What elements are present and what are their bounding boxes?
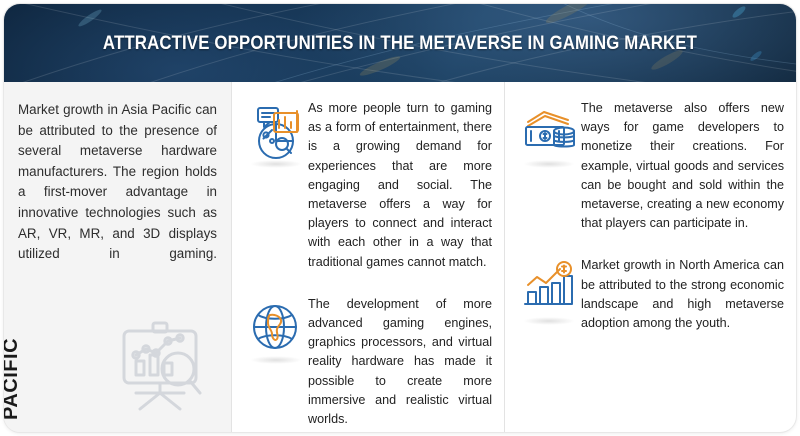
icon-shadow xyxy=(523,160,575,168)
bar-chart-growth-dollar-icon xyxy=(519,259,577,317)
presentation-board-chart-icon xyxy=(110,317,210,418)
left-panel-footer: ASIA PACIFIC xyxy=(4,306,231,426)
infographic-screenshot: ATTRACTIVE OPPORTUNITIES IN THE METAVERS… xyxy=(0,0,800,436)
pie-chart-analysis-icon xyxy=(246,102,304,160)
list-item: As more people turn to gaming as a form … xyxy=(242,98,492,272)
list-item-text: The development of more advanced gaming … xyxy=(308,294,492,429)
list-item: The metaverse also offers new ways for g… xyxy=(515,98,784,233)
region-label: ASIA PACIFIC xyxy=(4,338,22,420)
left-panel-paragraph: Market growth in Asia Pacific can be att… xyxy=(18,100,217,265)
icon-shadow xyxy=(250,160,302,168)
page-title: ATTRACTIVE OPPORTUNITIES IN THE METAVERS… xyxy=(59,4,740,82)
list-item: Market growth in North America can be at… xyxy=(515,255,784,333)
money-banknote-coins-icon xyxy=(519,102,577,160)
list-item-text: Market growth in North America can be at… xyxy=(581,255,784,333)
icon-container xyxy=(515,255,581,322)
icon-container xyxy=(515,98,581,165)
icon-container xyxy=(242,98,308,165)
list-item: The development of more advanced gaming … xyxy=(242,294,492,429)
globe-icon xyxy=(246,298,304,356)
icon-shadow xyxy=(250,356,302,364)
right-column: The metaverse also offers new ways for g… xyxy=(505,82,796,432)
icon-container xyxy=(242,294,308,361)
left-region-panel: Market growth in Asia Pacific can be att… xyxy=(4,82,231,432)
list-item-text: The metaverse also offers new ways for g… xyxy=(581,98,784,233)
list-item-text: As more people turn to gaming as a form … xyxy=(308,98,492,272)
icon-shadow xyxy=(523,317,575,325)
infographic-card: ATTRACTIVE OPPORTUNITIES IN THE METAVERS… xyxy=(4,4,796,432)
middle-column: As more people turn to gaming as a form … xyxy=(232,82,504,432)
region-label-line2: PACIFIC xyxy=(4,338,22,420)
content-area: Market growth in Asia Pacific can be att… xyxy=(4,82,796,432)
header-banner: ATTRACTIVE OPPORTUNITIES IN THE METAVERS… xyxy=(4,4,796,82)
